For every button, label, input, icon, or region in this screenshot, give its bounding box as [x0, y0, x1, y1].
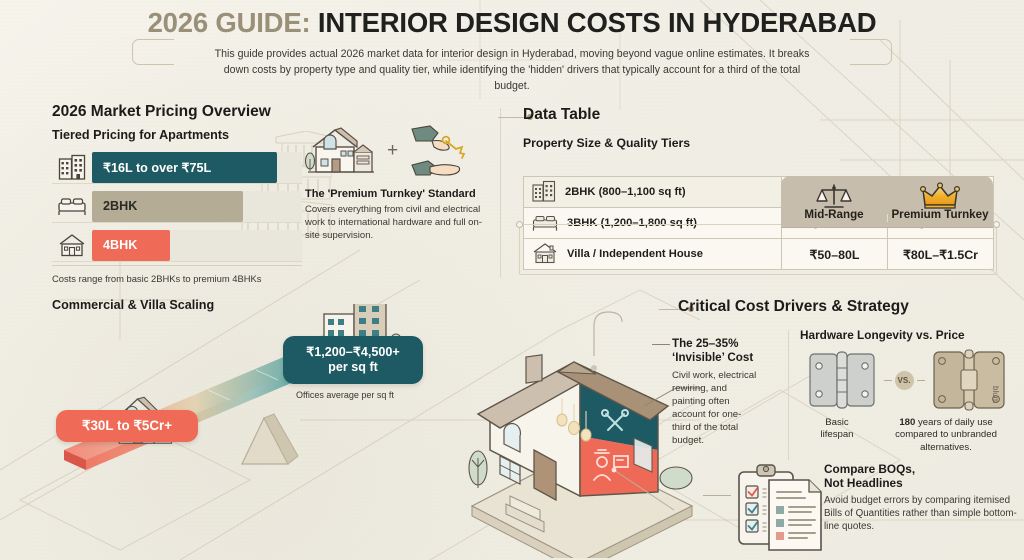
table-cell-label: 2BHK (800–1,100 sq ft) [524, 177, 782, 208]
turnkey-heading: The 'Premium Turnkey' Standard [305, 188, 495, 200]
bed-icon [52, 191, 92, 222]
tiered-pricing-chart: ₹16L to over ₹75L 2BHK [52, 150, 302, 262]
boq-body: Avoid budget errors by comparing itemise… [824, 494, 1019, 534]
premium-hinge-number: 180 [899, 417, 915, 428]
table-cell-premium-turnkey: ₹80L–₹1.5Cr [888, 239, 994, 270]
table-row: Villa / Independent House ₹50–80L ₹80L–₹… [524, 239, 994, 270]
invisible-cost-heading-line1: The 25–35% [672, 337, 738, 350]
data-table-row-header: Property Size & Quality Tiers [523, 136, 993, 150]
pricing-bar-fill: 2BHK [92, 191, 243, 222]
pricing-bar-label: 4BHK [92, 238, 137, 252]
office-cost-badge: ₹1,200–₹4,500+ per sq ft [283, 336, 423, 384]
villa-house-icon [305, 121, 379, 181]
basic-caption-line1: Basic [825, 417, 848, 428]
invisible-cost-block: The 25–35% ‘Invisible’ Cost Civil work, … [672, 337, 758, 447]
drivers-title: Critical Cost Drivers & Strategy [678, 298, 1008, 316]
pricing-bar-fill: 4BHK [92, 230, 170, 261]
scales-icon [814, 182, 854, 213]
pricing-bar-row: 4BHK [52, 228, 302, 262]
invisible-cost-heading-line2: ‘Invisible’ Cost [672, 351, 753, 364]
office-cost-note: Offices average per sq ft [296, 390, 394, 400]
boq-heading-line1: Compare BOQs, [824, 462, 915, 476]
column-header-mid-range: Mid-Range [781, 208, 887, 228]
premium-turnkey-block: + The 'Premium Turnkey' Standard Covers … [305, 120, 495, 242]
pricing-bar-fill: ₹16L to over ₹75L [92, 152, 277, 183]
market-pricing-title: 2026 Market Pricing Overview [52, 103, 302, 121]
basic-hinge-icon [806, 349, 878, 411]
pricing-caption: Costs range from basic 2BHKs to premium … [52, 273, 302, 284]
pricing-bar-row: ₹16L to over ₹75L [52, 150, 302, 184]
bed-icon [532, 212, 558, 235]
office-cost-badge-line1: ₹1,200–₹4,500+ [306, 345, 399, 360]
hardware-longevity-block: Hardware Longevity vs. Price VS. [800, 328, 1012, 454]
table-cell-label: 3BHK (1,200–1,800 sq ft) [524, 208, 782, 239]
page-subtitle: This guide provides actual 2026 market d… [212, 47, 812, 95]
clipboard-documents-icon [733, 462, 825, 554]
house-icon [532, 242, 558, 267]
house-cutaway-illustration [462, 310, 702, 558]
boq-heading-line2: Not Headlines [824, 476, 903, 490]
title-highlight: 2026 GUIDE: [148, 7, 311, 38]
office-cost-badge-line2: per sq ft [328, 360, 378, 375]
page-title: 2026 GUIDE: INTERIOR DESIGN COSTS IN HYD… [0, 8, 1024, 38]
vs-badge: VS. [895, 371, 914, 390]
invisible-cost-leader-line [652, 344, 670, 345]
premium-hinge-caption: 180 years of daily use compared to unbra… [880, 417, 1012, 454]
crown-icon [919, 182, 961, 213]
title-main: INTERIOR DESIGN COSTS IN HYDERABAD [310, 7, 876, 38]
table-cell-mid-range: ₹50–80L [782, 239, 888, 270]
header-bracket-right [850, 39, 892, 65]
data-table-wrapper: Mid-Range [523, 176, 993, 270]
pricing-bar-label: ₹16L to over ₹75L [92, 160, 211, 175]
villa-cost-badge-label: ₹30L to ₹5Cr+ [82, 418, 172, 434]
turnkey-body: Covers everything from civil and electri… [305, 203, 495, 242]
basic-caption-line2: lifespan [820, 429, 853, 440]
header-bracket-left [132, 39, 174, 65]
commercial-villa-scaling-section: Commercial & Villa Scaling [52, 298, 472, 548]
handing-keys-icon [406, 123, 478, 179]
data-table-title: Data Table [523, 106, 993, 124]
basic-hinge-caption: Basic lifespan [800, 417, 874, 454]
house-icon [52, 230, 92, 261]
page-header: 2026 GUIDE: INTERIOR DESIGN COSTS IN HYD… [0, 8, 1024, 95]
caption-divider [52, 265, 302, 266]
section-divider-vertical [500, 108, 501, 278]
column-header-premium-turnkey: Premium Turnkey [887, 208, 993, 228]
pricing-bar-label: 2BHK [92, 199, 137, 213]
invisible-cost-heading: The 25–35% ‘Invisible’ Cost [672, 337, 758, 365]
infographic-page: 2026 GUIDE: INTERIOR DESIGN COSTS IN HYD… [0, 0, 1024, 560]
apartment-building-icon [532, 180, 556, 205]
market-pricing-section: 2026 Market Pricing Overview Tiered Pric… [52, 103, 302, 284]
table-row-label-text: 3BHK (1,200–1,800 sq ft) [567, 217, 697, 229]
seesaw-scaling-art [52, 304, 472, 494]
table-cell-label: Villa / Independent House [524, 239, 782, 270]
compare-boqs-block: Compare BOQs, Not Headlines Avoid budget… [824, 462, 1019, 534]
drivers-divider-vertical [788, 330, 789, 460]
hinge-comparison: VS. blum [800, 348, 1012, 412]
table-row-label-text: Villa / Independent House [567, 248, 703, 260]
data-table-header-band: Mid-Range [781, 176, 993, 228]
boq-heading: Compare BOQs, Not Headlines [824, 462, 1019, 491]
plus-symbol: + [387, 140, 398, 162]
table-row-label-text: 2BHK (800–1,100 sq ft) [565, 186, 686, 198]
invisible-cost-body: Civil work, electrical rewiring, and pai… [672, 369, 758, 447]
villa-cost-badge: ₹30L to ₹5Cr+ [56, 410, 198, 442]
pricing-bar-row: 2BHK [52, 189, 302, 223]
boq-leader-line [703, 495, 731, 496]
apartment-building-icon [52, 152, 92, 183]
critical-cost-drivers-section: Critical Cost Drivers & Strategy [678, 298, 1008, 316]
data-table-section: Data Table Property Size & Quality Tiers [523, 106, 993, 270]
premium-hinge-icon: blum [931, 348, 1007, 412]
hinge-brand-mark: blum [991, 386, 1000, 404]
hardware-heading: Hardware Longevity vs. Price [800, 328, 1012, 342]
